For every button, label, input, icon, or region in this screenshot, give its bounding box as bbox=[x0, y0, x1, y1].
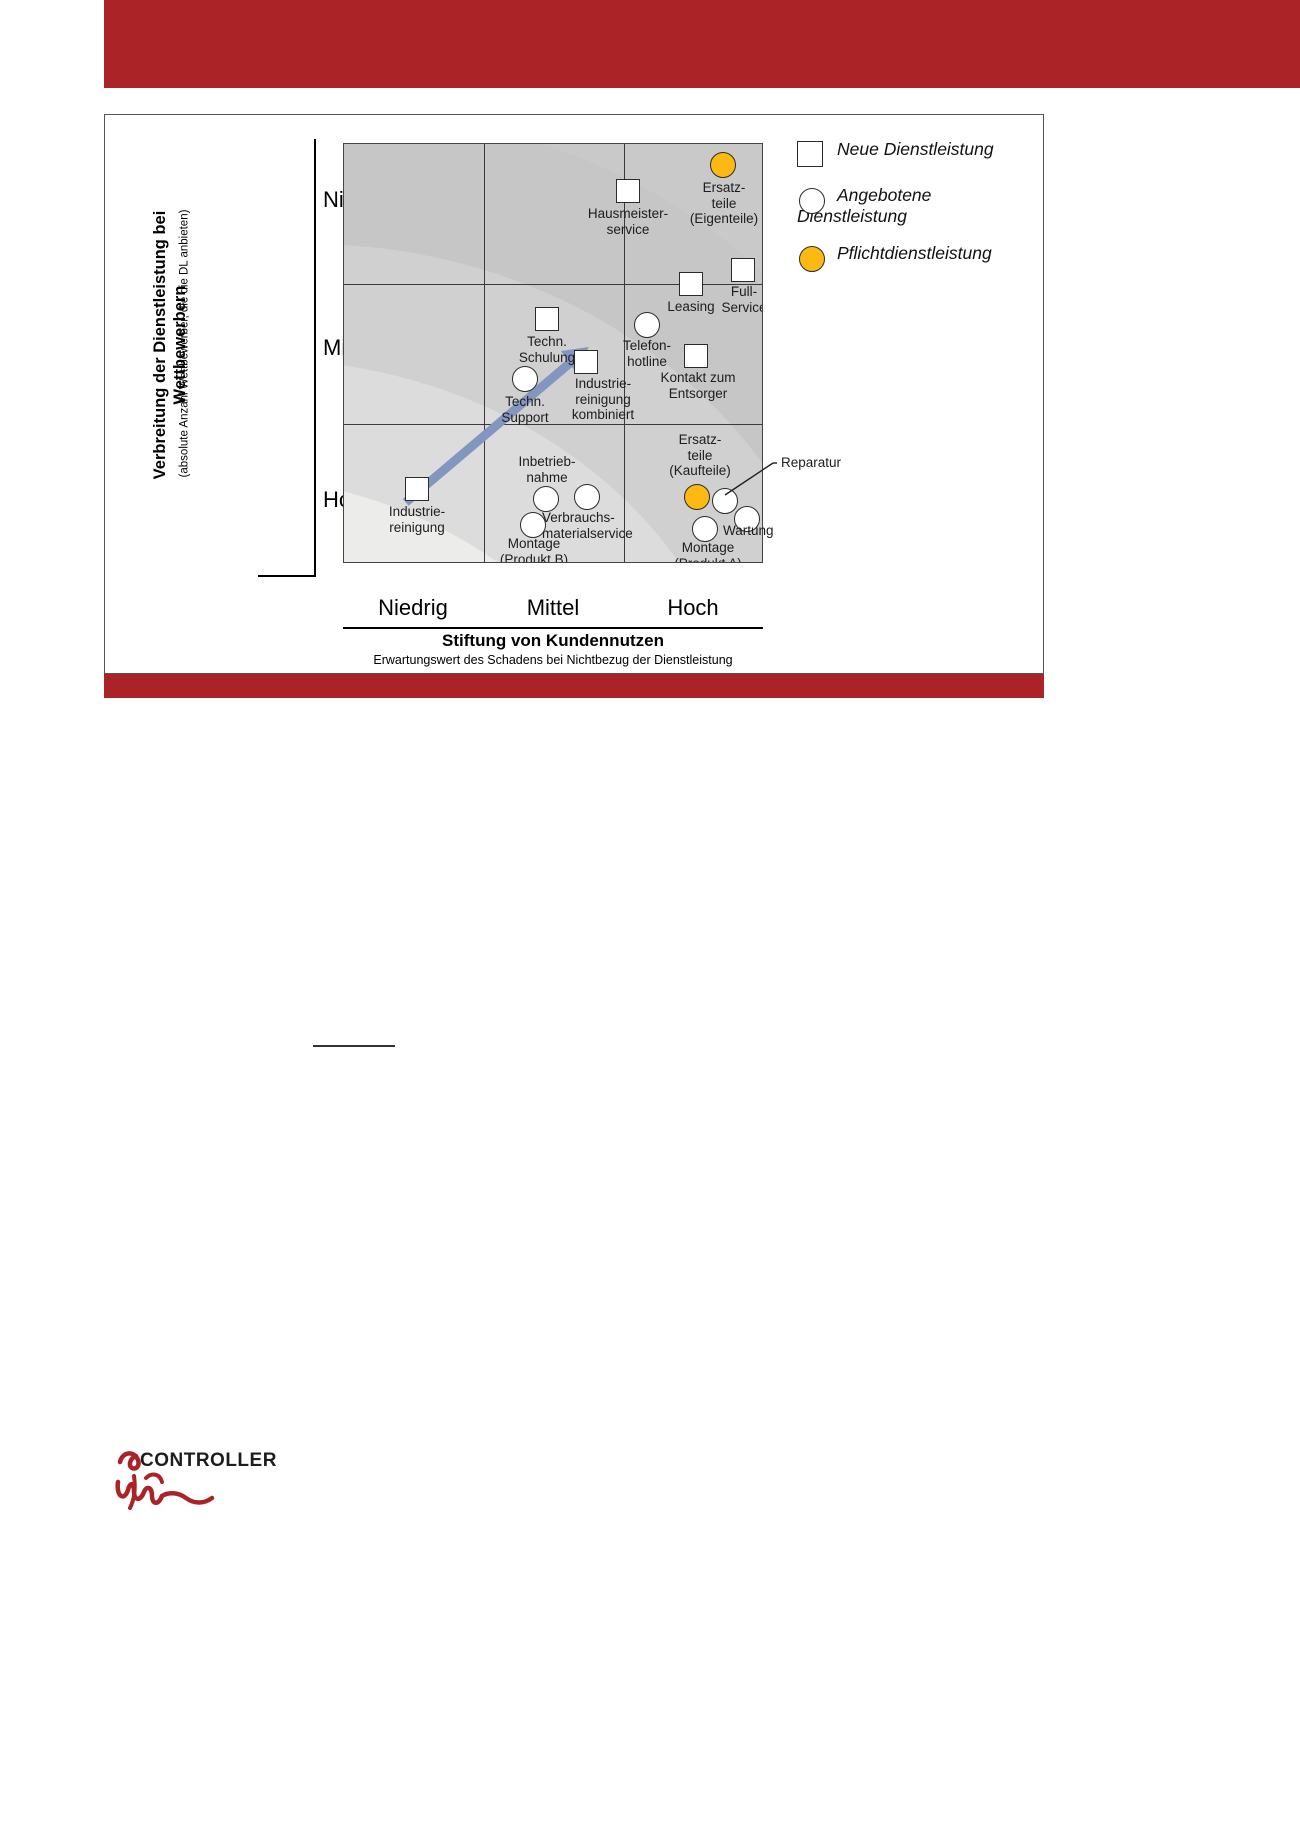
controller-magazin-logo: CONTROLLER bbox=[112, 1448, 292, 1518]
marker-ersatzteile-kaufteile[interactable] bbox=[684, 484, 710, 510]
logo-wordmark: CONTROLLER bbox=[140, 1450, 277, 1472]
x-tick-niedrig: Niedrig bbox=[343, 595, 483, 621]
legend-label-1: Neue Dienstleistung bbox=[837, 139, 994, 159]
legend-label-3: Pflichtdienstleistung bbox=[837, 243, 992, 263]
x-axis-line bbox=[343, 627, 763, 629]
label-wartung: Wartung bbox=[723, 523, 813, 539]
marker-fullservice[interactable] bbox=[731, 258, 755, 282]
y-axis-line bbox=[314, 139, 316, 576]
marker-industriereinigung[interactable] bbox=[405, 477, 429, 501]
x-axis-subtitle: Erwartungswert des Schadens bei Nichtbez… bbox=[263, 653, 843, 667]
text-underline-mark bbox=[313, 1045, 395, 1047]
marker-industriereinigung-kombiniert[interactable] bbox=[574, 350, 598, 374]
label-ersatzteile-eigenteile: Ersatz- teile (Eigenteile) bbox=[664, 180, 763, 227]
bottom-accent-bar bbox=[104, 674, 1044, 698]
figure-panel: Verbreitung der Dienstleistung bei Wettb… bbox=[104, 114, 1044, 674]
portfolio-matrix: Hausmeister- service Ersatz- teile (Eige… bbox=[343, 143, 763, 563]
marker-montage-produkt-b[interactable] bbox=[520, 512, 546, 538]
legend-item-pflichtdienstleistung[interactable]: Pflichtdienstleistung bbox=[797, 243, 1027, 273]
chart-legend: Neue Dienstleistung Angebotene Dienstlei… bbox=[797, 139, 1027, 289]
square-marker-icon bbox=[797, 141, 823, 167]
y-axis-foot-tick bbox=[258, 575, 316, 577]
gold-circle-marker-icon bbox=[799, 246, 825, 272]
x-axis-title: Stiftung von Kundennutzen bbox=[343, 631, 763, 651]
legend-item-neue-dienstleistung[interactable]: Neue Dienstleistung bbox=[797, 139, 1027, 169]
label-reparatur-callout: Reparatur bbox=[781, 455, 841, 470]
y-axis-subtitle: (absolute Anzahl Wettbewerber, die die D… bbox=[179, 194, 192, 494]
marker-leasing[interactable] bbox=[679, 272, 703, 296]
circle-marker-icon bbox=[799, 188, 825, 214]
marker-ersatzteile-eigenteile[interactable] bbox=[710, 152, 736, 178]
marker-verbrauchsmaterialservice[interactable] bbox=[574, 484, 600, 510]
label-fullservice: Full- Service bbox=[706, 284, 763, 315]
label-inbetriebnahme: Inbetrieb- nahme bbox=[494, 454, 600, 485]
label-industriereinigung: Industrie- reinigung bbox=[366, 504, 468, 535]
label-techn-support: Techn. Support bbox=[474, 394, 576, 425]
y-axis-label-group: Verbreitung der Dienstleistung bei Wettb… bbox=[141, 175, 201, 595]
x-tick-mittel: Mittel bbox=[483, 595, 623, 621]
label-montage-produkt-b: Montage (Produkt B) bbox=[476, 536, 592, 563]
marker-montage-produkt-a[interactable] bbox=[692, 516, 718, 542]
legend-item-angebotene-dienstleistung[interactable]: Angebotene Dienstleistung bbox=[797, 185, 1027, 227]
marker-techn-support[interactable] bbox=[512, 366, 538, 392]
x-tick-hoch: Hoch bbox=[623, 595, 763, 621]
marker-telefonhotline[interactable] bbox=[634, 312, 660, 338]
marker-techn-schulung[interactable] bbox=[535, 307, 559, 331]
marker-inbetriebnahme[interactable] bbox=[533, 486, 559, 512]
gridline-vertical-1 bbox=[484, 144, 485, 562]
top-accent-bar bbox=[104, 0, 1300, 88]
label-ersatzteile-kaufteile: Ersatz- teile (Kaufteile) bbox=[644, 432, 756, 479]
marker-hausmeisterservice[interactable] bbox=[616, 179, 640, 203]
marker-reparatur[interactable] bbox=[712, 488, 738, 514]
label-kontakt-entsorger: Kontakt zum Entsorger bbox=[640, 370, 756, 401]
label-montage-produkt-a: Montage (Produkt A) bbox=[650, 540, 763, 563]
marker-kontakt-entsorger[interactable] bbox=[684, 344, 708, 368]
label-telefonhotline: Telefon- hotline bbox=[596, 338, 698, 369]
